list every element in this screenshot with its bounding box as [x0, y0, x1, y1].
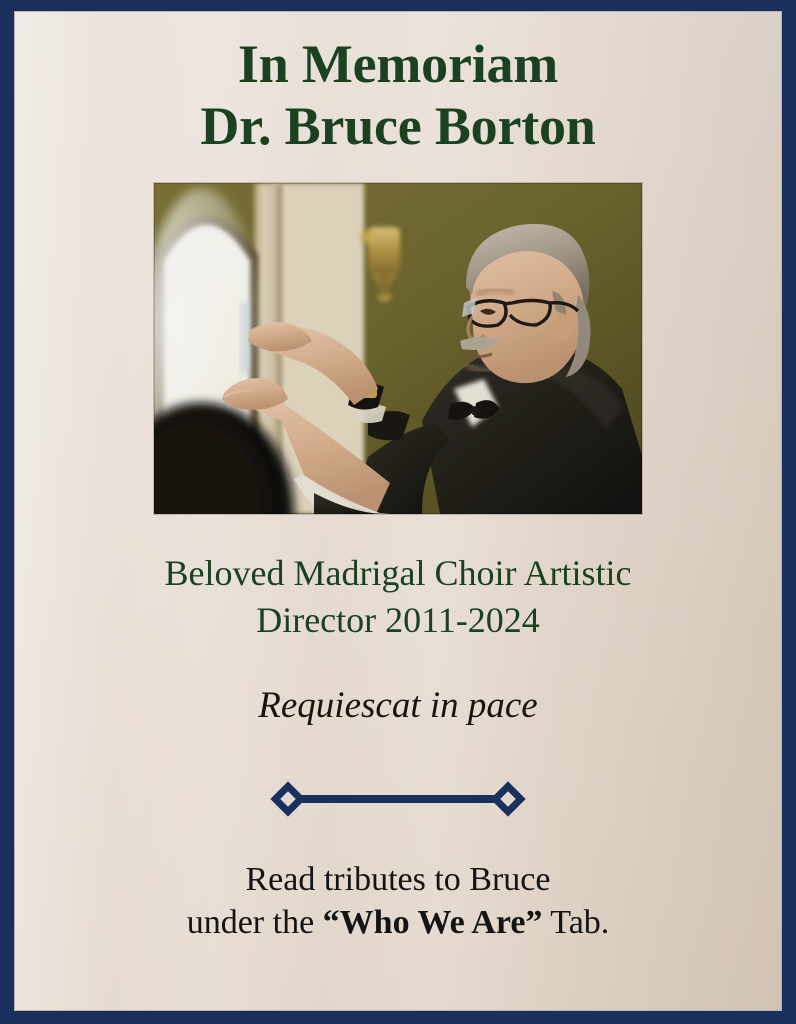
footer-suffix: Tab.: [542, 904, 609, 941]
caption-line-1: Beloved Madrigal Choir Artistic: [165, 550, 632, 597]
caption-line-2: Director 2011-2024: [165, 597, 632, 644]
footer-line-1: Read tributes to Bruce: [187, 859, 610, 902]
diamond-divider-icon: [270, 781, 526, 817]
memorial-card: In Memoriam Dr. Bruce Borton: [0, 0, 796, 1024]
footer-note: Read tributes to Bruce under the “Who We…: [187, 859, 610, 945]
title-line-name: Dr. Bruce Borton: [200, 96, 595, 158]
conductor-photo-illustration: [154, 183, 642, 514]
page-title: In Memoriam Dr. Bruce Borton: [200, 34, 595, 157]
memorial-panel: In Memoriam Dr. Bruce Borton: [14, 11, 782, 1011]
memorial-photo: [154, 183, 642, 514]
latin-phrase: Requiescat in pace: [258, 686, 537, 727]
title-line-in-memoriam: In Memoriam: [200, 34, 595, 96]
who-we-are-tab-reference: “Who We Are”: [323, 904, 543, 941]
footer-line-2: under the “Who We Are” Tab.: [187, 902, 610, 945]
memorial-caption: Beloved Madrigal Choir Artistic Director…: [165, 550, 632, 644]
footer-prefix: under the: [187, 904, 323, 941]
